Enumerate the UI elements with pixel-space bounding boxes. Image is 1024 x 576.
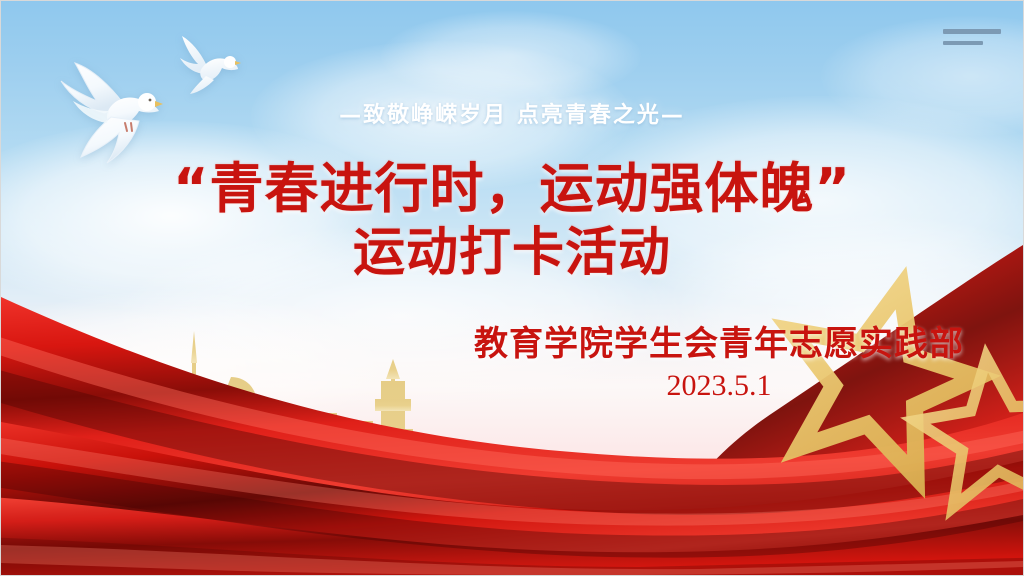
menu-bar-icon: [943, 41, 983, 45]
organization-name: 教育学院学生会青年志愿实践部: [439, 323, 999, 365]
corner-mark: [943, 29, 1001, 52]
organization-block: 教育学院学生会青年志愿实践部 2023.5.1: [439, 323, 999, 405]
event-date: 2023.5.1: [439, 367, 999, 405]
title-line-2: 运动打卡活动: [1, 221, 1023, 285]
menu-bar-icon: [943, 29, 1001, 34]
red-silk-ribbon: [1, 245, 1023, 575]
dove-icon: [176, 34, 248, 96]
poster-subtitle: —致敬峥嵘岁月 点亮青春之光—: [1, 97, 1023, 129]
poster-title: “青春进行时，运动强体魄” 运动打卡活动: [1, 157, 1023, 285]
poster-canvas: —致敬峥嵘岁月 点亮青春之光— “青春进行时，运动强体魄” 运动打卡活动 教育学…: [0, 0, 1024, 576]
title-line-1: “青春进行时，运动强体魄”: [1, 157, 1023, 221]
